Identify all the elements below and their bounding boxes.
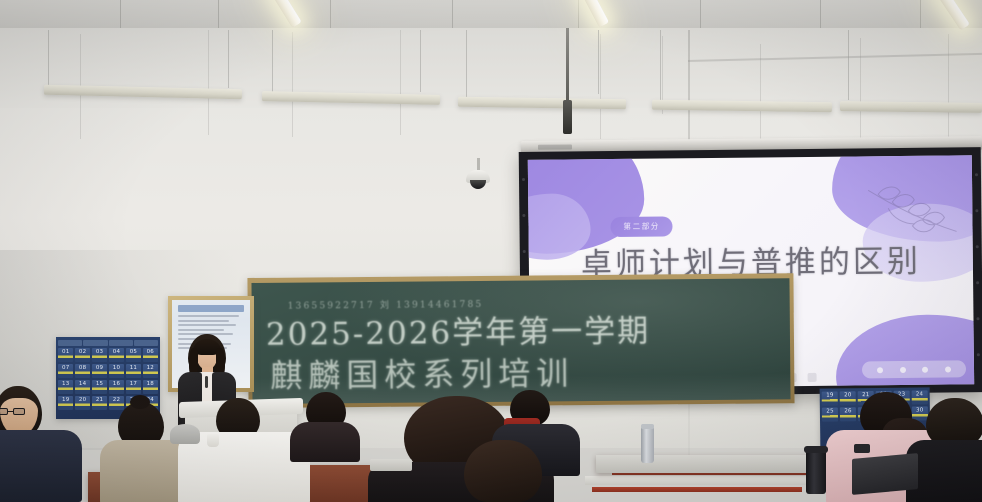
audience-member-right-black xyxy=(920,398,982,502)
cup xyxy=(207,434,219,447)
audience-member-left-glasses xyxy=(0,386,82,502)
ceiling-light-tube xyxy=(840,101,982,113)
pocket-cell: 15 xyxy=(92,380,107,394)
microphone-icon xyxy=(205,376,208,388)
pocket-cell: 03 xyxy=(92,348,107,362)
blackboard-surface: 13655922717 刘 13914461785 2025-2026学年第一学… xyxy=(251,278,790,404)
pointer-icon[interactable] xyxy=(900,366,906,372)
pocket-cell: 11 xyxy=(126,364,141,378)
pocket-chart-header-cell xyxy=(83,340,107,346)
paper-stack xyxy=(370,459,412,471)
pocket-cell: 01 xyxy=(58,348,73,362)
slide-control-bar[interactable] xyxy=(862,360,966,378)
equipment-box xyxy=(170,424,200,444)
laptop[interactable] xyxy=(852,453,918,495)
more-icon[interactable] xyxy=(808,373,817,382)
pocket-chart-header-cell xyxy=(109,340,133,346)
blackboard: 13655922717 刘 13914461785 2025-2026学年第一学… xyxy=(247,273,794,408)
audience-member-white-coat xyxy=(188,398,304,502)
thermos-black xyxy=(806,450,826,494)
torso xyxy=(0,430,82,502)
next-slide-icon[interactable] xyxy=(922,366,928,372)
pocket-cell: 07 xyxy=(58,364,73,378)
audience-member-bottom-left-longhair xyxy=(460,440,550,502)
pocket-cell: 12 xyxy=(143,364,158,378)
housing-label xyxy=(538,144,572,149)
pocket-cell: 18 xyxy=(143,380,158,394)
pocket-cell: 05 xyxy=(126,348,141,362)
glasses-icon xyxy=(0,408,26,415)
desk-right xyxy=(596,455,812,473)
pocket-chart-header-cell xyxy=(58,340,82,346)
pocket-chart-header-cell xyxy=(134,340,158,346)
audience-member-center-dark xyxy=(290,392,360,456)
pocket-cell: 10 xyxy=(109,364,124,378)
pocket-cell: 02 xyxy=(75,348,90,362)
pocket-cell: 17 xyxy=(126,380,141,394)
slide-menu-icon[interactable] xyxy=(945,366,951,372)
collar-detail xyxy=(854,444,870,453)
pocket-cell: 06 xyxy=(143,348,158,362)
pocket-cell: 04 xyxy=(109,348,124,362)
prev-slide-icon[interactable] xyxy=(877,367,883,373)
torso xyxy=(290,422,360,462)
pocket-cell: 09 xyxy=(92,364,107,378)
desk-rail xyxy=(592,487,802,492)
slide-section-badge: 第二部分 xyxy=(610,216,673,237)
classroom-photo-scene: 第二部分 卓师计划与普推的区别 13655922717 刘 xyxy=(0,0,982,502)
pocket-cell: 16 xyxy=(109,380,124,394)
head xyxy=(464,440,542,502)
projector-mount xyxy=(563,100,572,134)
pocket-cell: 08 xyxy=(75,364,90,378)
desk-surface xyxy=(585,476,815,485)
pocket-chart-row: 01 02 03 04 05 06 xyxy=(58,348,158,362)
thermos-steel xyxy=(641,427,654,463)
pocket-chart-row: 07 08 09 10 11 12 xyxy=(58,364,158,378)
